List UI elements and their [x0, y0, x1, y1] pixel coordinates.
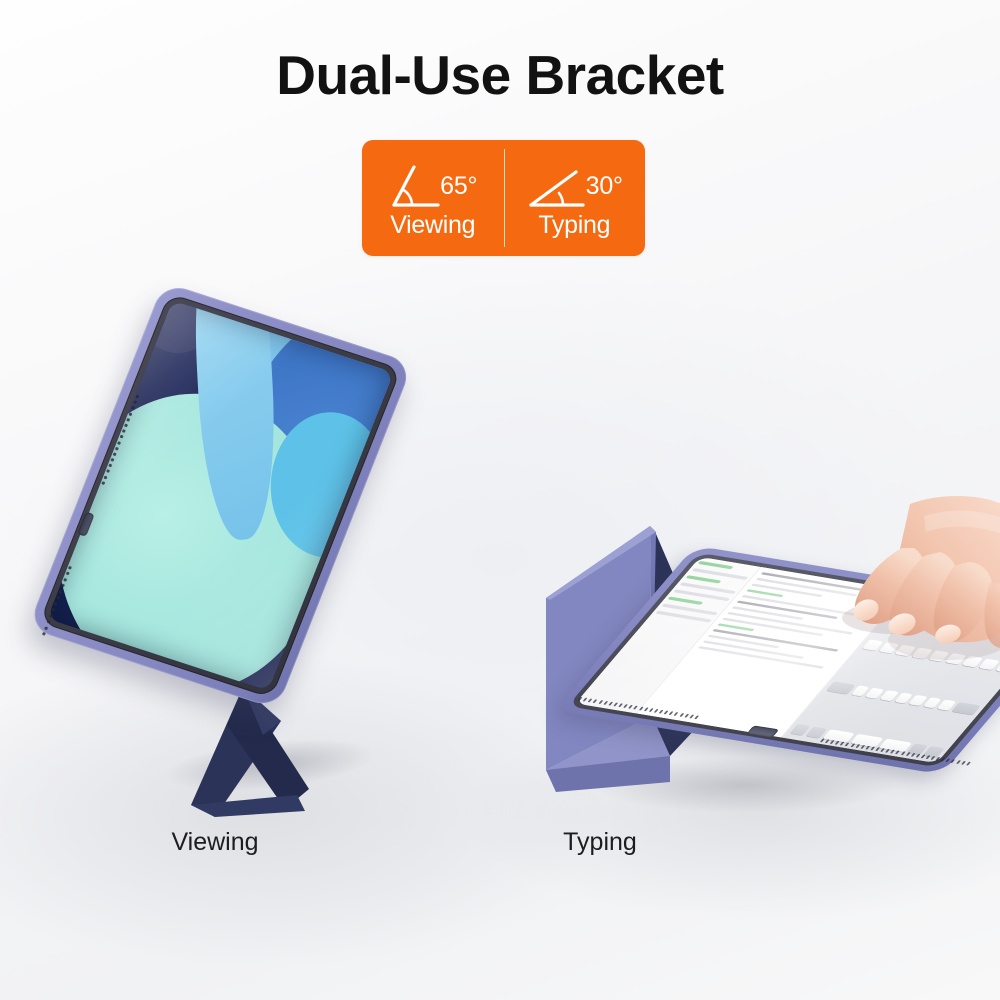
- viewing-screen-glare: [47, 300, 393, 690]
- angle-30-icon: [526, 162, 588, 208]
- typing-angle-value: 30°: [586, 174, 623, 199]
- caption-viewing: Viewing: [130, 828, 300, 856]
- viewing-tablet: [27, 282, 413, 710]
- typing-hand: [798, 490, 1000, 700]
- angle-badge: 65° Viewing 30° Typing: [362, 140, 645, 256]
- badge-half-typing: 30° Typing: [504, 140, 646, 256]
- page-title: Dual-Use Bracket: [0, 44, 1000, 106]
- badge-half-viewing: 65° Viewing: [362, 140, 504, 256]
- viewing-angle-value: 65°: [440, 174, 477, 199]
- angle-65-icon: [388, 162, 442, 208]
- viewing-badge-label: Viewing: [390, 212, 475, 239]
- viewing-screen-bezel: [39, 293, 401, 698]
- badge-viewing-icon-row: 65°: [362, 162, 504, 208]
- caption-typing: Typing: [520, 828, 680, 856]
- viewing-scene: [0, 290, 430, 830]
- viewing-screen: [47, 300, 393, 690]
- badge-typing-icon-row: 30°: [504, 162, 646, 208]
- typing-scene: [520, 500, 1000, 830]
- typing-badge-label: Typing: [538, 212, 610, 239]
